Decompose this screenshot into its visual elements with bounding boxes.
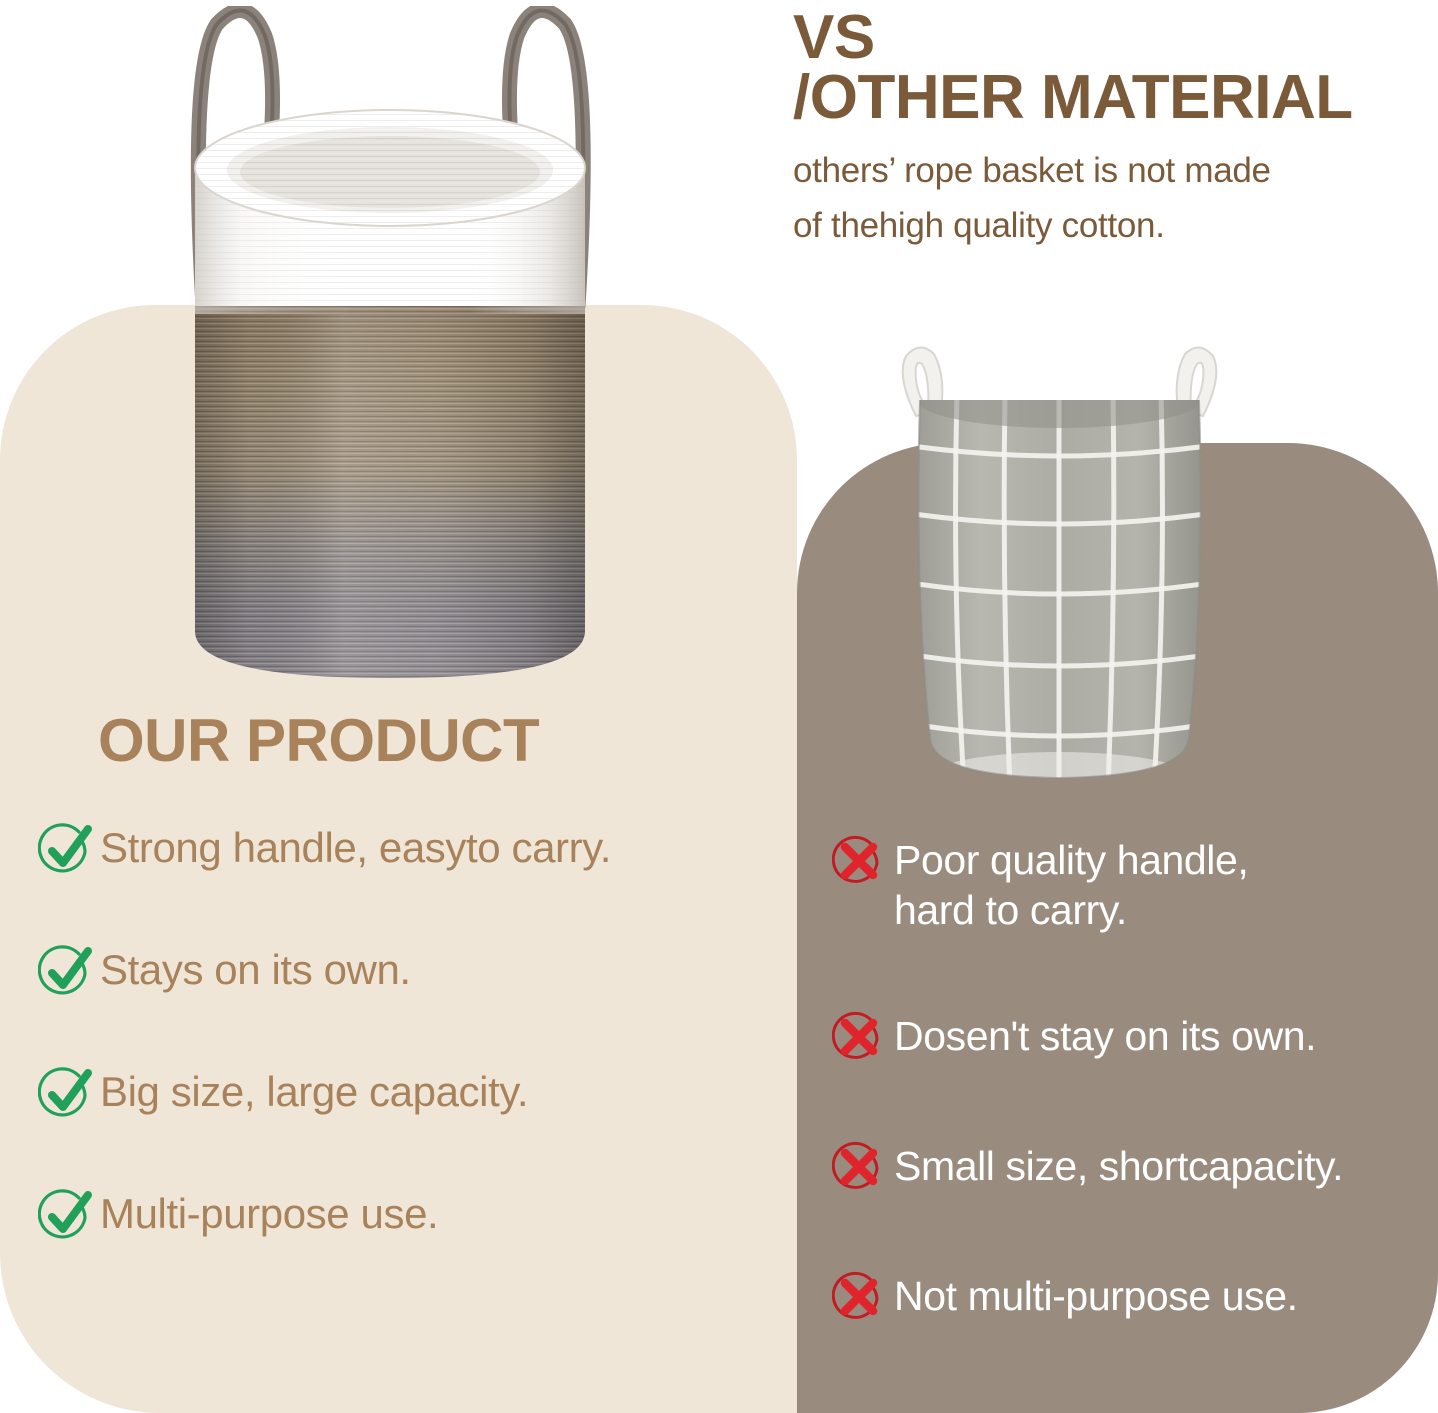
list-item: Strong handle, easyto carry. (38, 820, 768, 878)
check-circle-icon (38, 1066, 94, 1122)
basket-body (195, 110, 585, 686)
vs-label: VS (793, 8, 1438, 68)
list-item: Big size, large capacity. (38, 1064, 768, 1122)
header-subtitle-line-2: of thehigh quality cotton. (793, 199, 1438, 253)
list-item-label: Multi-purpose use. (100, 1186, 438, 1239)
list-item-label: Strong handle, easyto carry. (100, 820, 611, 873)
check-circle-icon (38, 944, 94, 1000)
x-circle-icon (832, 1271, 886, 1325)
list-item: Small size, shortcapacity. (832, 1139, 1432, 1195)
check-circle-icon (38, 1188, 94, 1244)
other-product-drawback-list: Poor quality handle, hard to carry. Dose… (832, 833, 1432, 1325)
header-subtitle: others’ rope basket is not made of thehi… (793, 144, 1438, 253)
comparison-header: VS /OTHER MATERIAL others’ rope basket i… (793, 8, 1438, 253)
list-item-label: Small size, shortcapacity. (894, 1139, 1343, 1191)
list-item-label: Dosen't stay on its own. (894, 1009, 1316, 1061)
x-circle-icon (832, 1141, 886, 1195)
list-item: Poor quality handle, hard to carry. (832, 833, 1432, 935)
header-subtitle-line-1: others’ rope basket is not made (793, 144, 1438, 198)
check-circle-icon (38, 822, 94, 878)
list-item-label: Stays on its own. (100, 942, 411, 995)
other-material-label: /OTHER MATERIAL (793, 68, 1438, 128)
our-product-title: OUR PRODUCT (98, 706, 539, 775)
list-item: Stays on its own. (38, 942, 768, 1000)
list-item: Not multi-purpose use. (832, 1269, 1432, 1325)
grid-fabric-basket-image (872, 338, 1247, 810)
list-item-label: Poor quality handle, hard to carry. (894, 833, 1248, 935)
x-circle-icon (832, 1011, 886, 1065)
list-item: Multi-purpose use. (38, 1186, 768, 1244)
list-item-label: Big size, large capacity. (100, 1064, 528, 1117)
other-basket-body (872, 338, 1247, 810)
x-circle-icon (832, 835, 886, 889)
list-item-label: Not multi-purpose use. (894, 1269, 1298, 1321)
our-product-feature-list: Strong handle, easyto carry. Stays on it… (38, 820, 768, 1244)
cotton-rope-basket-image (155, 6, 625, 706)
list-item: Dosen't stay on its own. (832, 1009, 1432, 1065)
